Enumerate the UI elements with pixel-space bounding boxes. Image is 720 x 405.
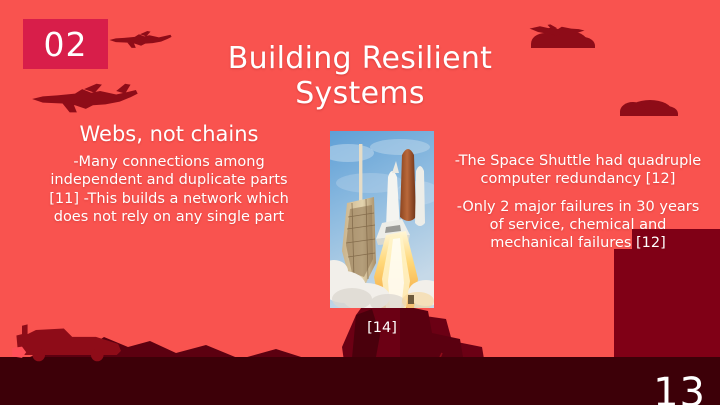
cloud-icon [628, 100, 672, 116]
space-shuttle-launch-photo [330, 131, 434, 308]
presentation-slide: 02 Building Resilient Systems Webs, not … [0, 0, 720, 405]
building-block-shape [614, 249, 720, 379]
left-column-heading: Webs, not chains [38, 122, 300, 147]
chapter-number-label: 02 [44, 28, 88, 61]
figure-block: [14] [330, 131, 434, 337]
fighter-jet-icon [108, 30, 172, 50]
military-truck-icon [12, 316, 124, 362]
right-column-paragraph: -The Space Shuttle had quadruple compute… [452, 152, 704, 189]
figure-caption: [14] [330, 320, 434, 337]
chapter-number-badge: 02 [23, 19, 108, 69]
page-title: Building Resilient Systems [185, 42, 535, 112]
left-column-body: -Many connections among independent and … [38, 153, 300, 226]
ground-band [0, 357, 720, 405]
fighter-jet-icon [528, 22, 586, 40]
cloud-icon [540, 30, 588, 48]
fighter-jet-icon [30, 82, 138, 116]
right-content-column: -The Space Shuttle had quadruple compute… [452, 152, 704, 252]
page-number-label: 13 [653, 373, 706, 405]
right-column-paragraph: -Only 2 major failures in 30 years of se… [452, 198, 704, 253]
left-content-column: Webs, not chains -Many connections among… [38, 122, 300, 226]
